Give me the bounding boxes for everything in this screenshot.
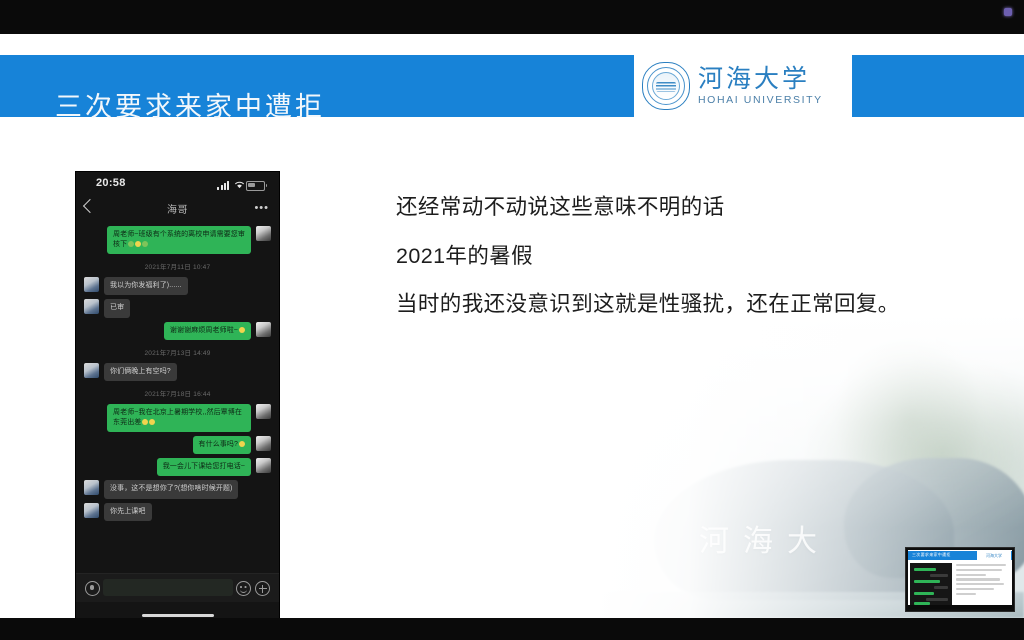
university-logo: 河海大学 HOHAI UNIVERSITY	[634, 55, 852, 117]
phone-status-bar: 20:58	[76, 172, 279, 198]
message-row: 你们俩晚上有空吗?	[84, 363, 271, 381]
avatar	[84, 277, 99, 292]
avatar	[256, 458, 271, 473]
message-row: 你先上课吧	[84, 503, 271, 521]
slide-body-text: 还经常动不动说这些意味不明的话 2021年的暑假 当时的我还没意识到这就是性骚扰…	[396, 194, 1006, 340]
avatar	[256, 322, 271, 337]
signal-icon	[217, 181, 229, 190]
body-line-3: 当时的我还没意识到这就是性骚扰，还在正常回复。	[396, 291, 1006, 319]
message-row: 我一会儿下课给您打电话~	[84, 458, 271, 476]
pip-logo: 河海大学	[986, 553, 1002, 559]
message-bubble: 我以为你发福利了)......	[104, 277, 188, 295]
message-row: 周老师~我在北京上暑期学校,,然后覃博在东莞出差	[84, 404, 271, 432]
avatar	[256, 404, 271, 419]
pip-body-text	[956, 564, 1011, 597]
voice-icon[interactable]	[85, 581, 100, 596]
body-line-2: 2021年的暑假	[396, 243, 1006, 271]
top-letterbox	[0, 0, 1024, 34]
message-bubble: 周老师~班级有个系统的离校申请需要您审核下	[107, 226, 251, 254]
more-dots-icon[interactable]: •••	[254, 205, 269, 211]
message-row: 已审	[84, 299, 271, 317]
message-bubble: 你们俩晚上有空吗?	[104, 363, 177, 381]
phone-chat-screenshot: 20:58 海哥 ••• 周老师~班级有个系统的离校申请需要您审核下	[76, 172, 279, 618]
message-row: 我以为你发福利了)......	[84, 277, 271, 295]
chat-title: 海哥	[76, 201, 279, 216]
avatar	[84, 363, 99, 378]
message-bubble: 我一会儿下课给您打电话~	[157, 458, 251, 476]
message-bubble: 谢谢谢麻烦周老师啦~	[164, 322, 251, 340]
message-timestamp: 2021年7月18日 16:44	[84, 388, 271, 398]
page-title: 三次要求来家中遭拒	[55, 85, 325, 124]
message-input[interactable]	[103, 579, 233, 596]
emoji-icon[interactable]	[236, 581, 251, 596]
recording-indicator-dot	[1004, 8, 1012, 16]
message-bubble: 你先上课吧	[104, 503, 152, 521]
home-indicator	[142, 614, 214, 617]
body-line-1: 还经常动不动说这些意味不明的话	[396, 194, 1006, 222]
pip-phone-image	[910, 563, 952, 607]
battery-icon	[246, 181, 265, 191]
message-bubble: 没事，这不是想你了?(想你啥时候开题)	[104, 480, 238, 498]
logo-name-en: HOHAI UNIVERSITY	[698, 94, 823, 106]
wifi-icon	[234, 180, 245, 189]
message-row: 没事，这不是想你了?(想你啥时候开题)	[84, 480, 271, 498]
screen-recording-frame: 河海大 三次要求来家中遭拒 河海大学 HOHAI UNIVERSITY 还经常动…	[0, 0, 1024, 640]
status-time: 20:58	[96, 177, 126, 189]
message-bubble: 周老师~我在北京上暑期学校,,然后覃博在东莞出差	[107, 404, 251, 432]
logo-name-cn: 河海大学	[698, 66, 823, 91]
message-timestamp: 2021年7月13日 14:49	[84, 347, 271, 357]
avatar	[256, 436, 271, 451]
presentation-slide: 河海大 三次要求来家中遭拒 河海大学 HOHAI UNIVERSITY 还经常动…	[0, 34, 1024, 618]
avatar	[84, 299, 99, 314]
bottom-letterbox	[0, 618, 1024, 640]
chat-message-list[interactable]: 周老师~班级有个系统的离校申请需要您审核下 2021年7月11日 10:47 我…	[76, 220, 279, 578]
message-timestamp: 2021年7月11日 10:47	[84, 261, 271, 271]
avatar	[84, 480, 99, 495]
avatar	[256, 226, 271, 241]
slide-title-banner: 三次要求来家中遭拒	[0, 55, 1024, 117]
picture-in-picture-thumbnail[interactable]: 三次要求来家中遭拒 河海大学	[905, 547, 1015, 612]
message-bubble: 有什么事吗?	[193, 436, 252, 454]
chat-input-bar	[76, 573, 279, 602]
message-row: 周老师~班级有个系统的离校申请需要您审核下	[84, 226, 271, 254]
phone-chat-header: 海哥 •••	[76, 198, 279, 220]
message-row: 谢谢谢麻烦周老师啦~	[84, 322, 271, 340]
avatar	[84, 503, 99, 518]
message-row: 有什么事吗?	[84, 436, 271, 454]
hohai-seal-icon	[642, 62, 690, 110]
pip-title: 三次要求来家中遭拒	[912, 552, 951, 558]
message-bubble: 已审	[104, 299, 130, 317]
plus-icon[interactable]	[255, 581, 270, 596]
